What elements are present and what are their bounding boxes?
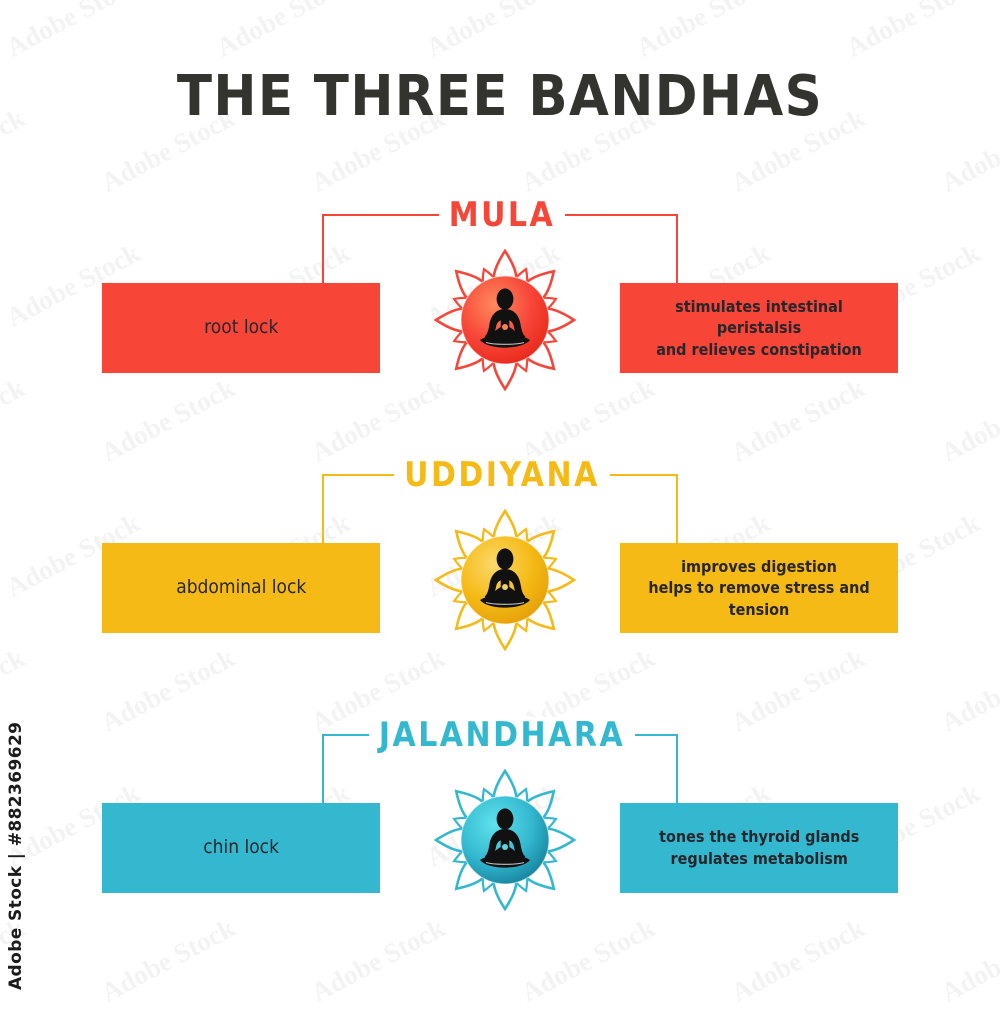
bandha-name-label: UDDIYANA xyxy=(394,457,610,495)
benefits-box-uddiyana[interactable]: improves digestion helps to remove stres… xyxy=(620,543,898,633)
watermark-tile: Adobe Stock xyxy=(631,0,775,64)
lock-name-text: abdominal lock xyxy=(176,575,306,601)
watermark-tile: Adobe Stock xyxy=(841,0,985,64)
benefits-text: improves digestion helps to remove stres… xyxy=(647,556,872,621)
bandha-row-mula: MULA root lock stimulates intestinal per… xyxy=(0,195,1000,455)
lock-name-box-mula[interactable]: root lock xyxy=(102,283,380,373)
chakra-lotus-meditation-icon-jalandhara xyxy=(430,765,580,915)
page-title: THE THREE BANDHAS xyxy=(40,64,960,129)
lock-name-box-jalandhara[interactable]: chin lock xyxy=(102,803,380,893)
bandha-name-mula: MULA xyxy=(324,199,680,233)
watermark-tile: Adobe Stock xyxy=(421,0,565,64)
bandha-row-jalandhara: JALANDHARA chin lock tones the thyroid g… xyxy=(0,715,1000,975)
benefits-text: tones the thyroid glands regulates metab… xyxy=(659,826,859,869)
bandha-row-uddiyana: UDDIYANA abdominal lock improves digesti… xyxy=(0,455,1000,715)
lock-name-text: chin lock xyxy=(203,835,279,861)
lock-name-box-uddiyana[interactable]: abdominal lock xyxy=(102,543,380,633)
bandha-name-label: JALANDHARA xyxy=(369,717,635,755)
watermark-tile: Adobe Stock xyxy=(0,102,30,198)
lock-name-text: root lock xyxy=(204,315,278,341)
chakra-lotus-meditation-icon-mula xyxy=(430,245,580,395)
watermark-tile: Adobe Stock xyxy=(211,0,355,64)
bandha-name-uddiyana: UDDIYANA xyxy=(324,459,680,493)
bandha-name-jalandhara: JALANDHARA xyxy=(324,719,680,753)
bandha-name-label: MULA xyxy=(439,197,566,235)
watermark-tile: Adobe Stock xyxy=(1,0,145,64)
benefits-text: stimulates intestinal peristalsis and re… xyxy=(647,296,872,361)
benefits-box-jalandhara[interactable]: tones the thyroid glands regulates metab… xyxy=(620,803,898,893)
benefits-box-mula[interactable]: stimulates intestinal peristalsis and re… xyxy=(620,283,898,373)
chakra-lotus-meditation-icon-uddiyana xyxy=(430,505,580,655)
